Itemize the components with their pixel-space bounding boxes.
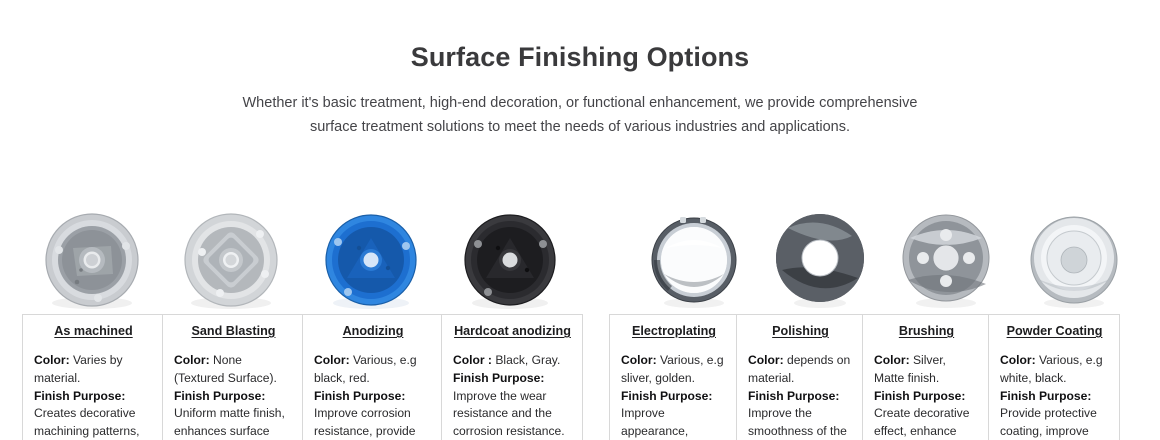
card-title: Powder Coating [1000, 324, 1109, 338]
polished-part-image [768, 208, 872, 310]
finish-value: Uniform matte finish, enhances surface r… [174, 406, 285, 440]
color-value: Black, Gray. [495, 353, 560, 367]
card-body: Color: Varies by material. Finish Purpos… [34, 352, 153, 440]
finish-label: Finish Purpose: [748, 389, 839, 403]
card-body: Color: Various, e.g white, black. Finish… [1000, 352, 1109, 440]
right-image-group [631, 204, 1142, 312]
thumb-as-machined [22, 204, 161, 312]
card-title: As machined [34, 324, 153, 338]
part-image-strip [0, 204, 1160, 312]
finish-value: Improve the wear resistance and the corr… [453, 389, 565, 439]
image-group-gap [605, 204, 631, 312]
finish-label: Finish Purpose: [174, 389, 265, 403]
thumb-electroplating [631, 204, 757, 312]
thumb-brushing [883, 204, 1009, 312]
card-title: Hardcoat anodizing [453, 324, 572, 338]
card-body: Color: Various, e.g sliver, golden. Fini… [621, 352, 727, 440]
finish-label: Finish Purpose: [314, 389, 405, 403]
finishing-cards: As machined Color: Varies by material. F… [0, 314, 1160, 440]
thumb-hardcoat-anodizing [440, 204, 580, 312]
color-label: Color: [1000, 353, 1036, 367]
card-title: Polishing [748, 324, 853, 338]
card-title: Brushing [874, 324, 979, 338]
card-brushing[interactable]: Brushing Color: Silver, Matte finish. Fi… [862, 315, 988, 440]
card-body: Color: Various, e.g black, red. Finish P… [314, 352, 432, 440]
card-title: Electroplating [621, 324, 727, 338]
card-title: Sand Blasting [174, 324, 293, 338]
right-card-group: Electroplating Color: Various, e.g slive… [609, 314, 1120, 440]
card-anodizing[interactable]: Anodizing Color: Various, e.g black, red… [302, 315, 441, 440]
finish-value: Improve corrosion resistance, provide de… [314, 406, 416, 440]
card-as-machined[interactable]: As machined Color: Varies by material. F… [23, 315, 162, 440]
thumb-sand-blasting [161, 204, 301, 312]
surface-finishing-page: Surface Finishing Options Whether it's b… [0, 42, 1160, 440]
finish-value: Improve appearance, increase corrosion r… [621, 406, 720, 440]
left-image-group [22, 204, 605, 312]
card-body: Color: Silver, Matte finish. Finish Purp… [874, 352, 979, 440]
finish-value: Create decorative effect, enhance appear… [874, 406, 969, 440]
page-subtitle: Whether it's basic treatment, high-end d… [235, 92, 925, 140]
color-label: Color: [874, 353, 910, 367]
finish-label: Finish Purpose: [621, 389, 712, 403]
thumb-polishing [757, 204, 883, 312]
card-electroplating[interactable]: Electroplating Color: Various, e.g slive… [610, 315, 736, 440]
finish-label: Finish Purpose: [874, 389, 965, 403]
color-label: Color: [174, 353, 210, 367]
page-title: Surface Finishing Options [0, 42, 1160, 73]
finish-label: Finish Purpose: [453, 371, 544, 385]
color-label: Color: [748, 353, 784, 367]
finish-label: Finish Purpose: [34, 389, 125, 403]
anodized-part-image [312, 208, 430, 310]
sand-blasted-part-image [172, 208, 290, 310]
color-label: Color: [621, 353, 657, 367]
color-label: Color: [34, 353, 70, 367]
card-body: Color : Black, Gray. Finish Purpose: Imp… [453, 352, 572, 440]
card-polishing[interactable]: Polishing Color: depends on material. Fi… [736, 315, 862, 440]
hardcoat-anodized-part-image [451, 208, 569, 310]
left-card-group: As machined Color: Varies by material. F… [22, 314, 583, 440]
as-machined-part-image [33, 208, 151, 310]
powder-coated-part-image [1022, 208, 1126, 310]
electroplated-part-image [642, 208, 746, 310]
card-title: Anodizing [314, 324, 432, 338]
brushed-part-image [894, 208, 998, 310]
thumb-powder-coating [1009, 204, 1139, 312]
finish-label: Finish Purpose: [1000, 389, 1091, 403]
thumb-anodizing [301, 204, 440, 312]
card-sand-blasting[interactable]: Sand Blasting Color: None (Textured Surf… [162, 315, 302, 440]
finish-value: Creates decorative machining patterns, l… [34, 406, 140, 440]
card-body: Color: depends on material. Finish Purpo… [748, 352, 853, 440]
finish-value: Improve the smoothness of the workpiece … [748, 406, 849, 440]
card-hardcoat-anodizing[interactable]: Hardcoat anodizing Color : Black, Gray. … [441, 315, 581, 440]
color-label: Color : [453, 353, 492, 367]
color-label: Color: [314, 353, 350, 367]
card-powder-coating[interactable]: Powder Coating Color: Various, e.g white… [988, 315, 1118, 440]
card-body: Color: None (Textured Surface). Finish P… [174, 352, 293, 440]
finish-value: Provide protective coating, improve appe… [1000, 406, 1097, 440]
